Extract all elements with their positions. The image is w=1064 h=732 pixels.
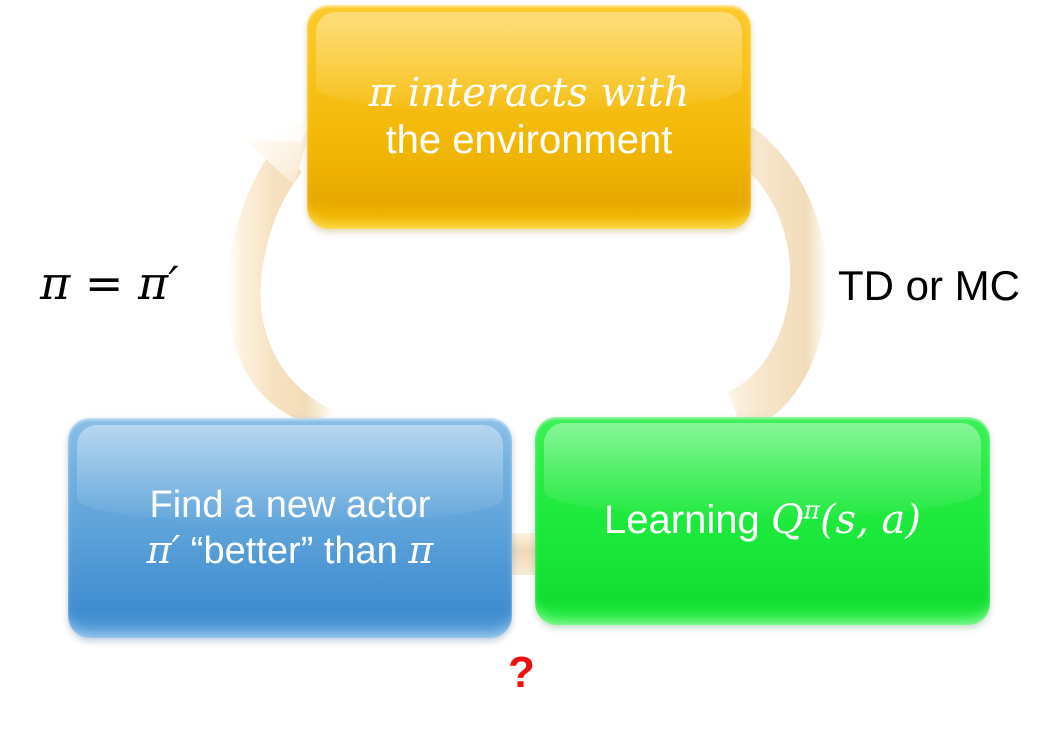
- pi-symbol: π: [408, 528, 433, 572]
- node-learning[interactable]: Learning Qπ(s, a): [535, 417, 990, 625]
- caption-policy-assignment: π = π′: [40, 256, 179, 310]
- caption-td-or-mc: TD or MC: [838, 262, 1020, 310]
- diagram-canvas: π interacts withthe environment Find a n…: [0, 0, 1064, 732]
- node-environment-line2: the environment: [386, 118, 673, 162]
- node-learning-label: Learning Qπ(s, a): [590, 497, 935, 544]
- node-actor-line2-middle: “better” than: [180, 530, 408, 572]
- node-actor-line1: Find a new actor: [150, 484, 431, 526]
- node-environment[interactable]: π interacts withthe environment: [307, 5, 751, 229]
- node-environment-label: π interacts withthe environment: [355, 70, 704, 164]
- pi-prime-symbol: π′: [147, 528, 181, 572]
- pi-superscript: π: [804, 496, 820, 525]
- node-learning-prefix: Learning: [604, 498, 771, 542]
- node-actor-label: Find a new actorπ′ “better” than π: [133, 483, 448, 574]
- pi-symbol: π interacts with: [369, 70, 690, 116]
- q-function-symbol: Q: [771, 497, 804, 543]
- equals-sign: =: [70, 256, 138, 310]
- state-action-args: (s, a): [820, 497, 921, 543]
- node-actor[interactable]: Find a new actorπ′ “better” than π: [68, 418, 512, 638]
- pi-symbol: π: [40, 256, 70, 310]
- pi-prime-symbol: π′: [138, 256, 179, 310]
- caption-question-mark: ?: [508, 648, 535, 698]
